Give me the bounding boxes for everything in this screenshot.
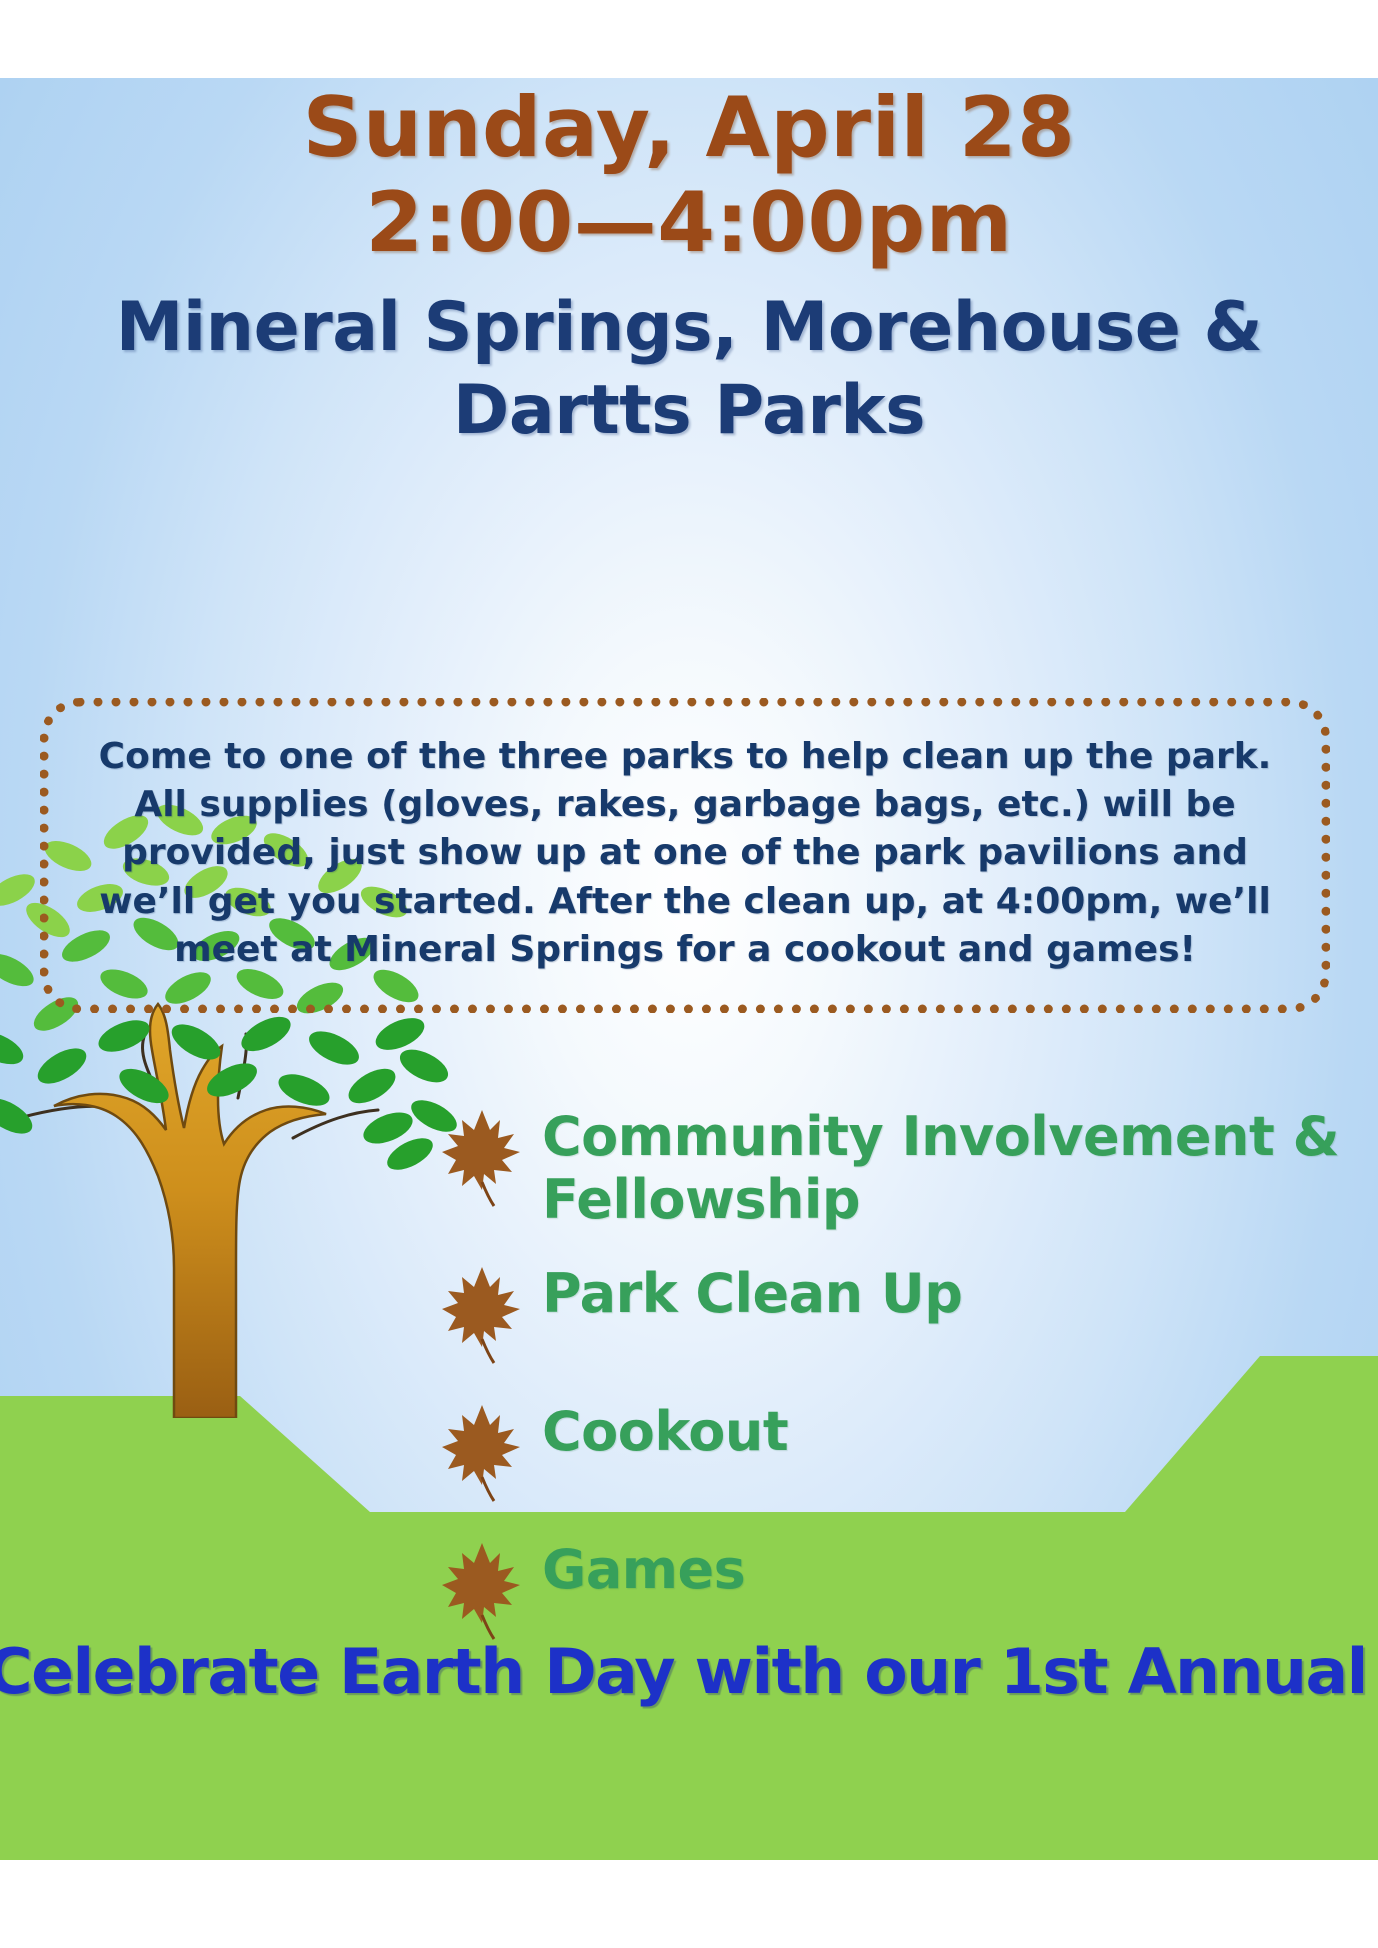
benefits-list: Community Involvement & Fellowship Park …	[440, 1100, 1340, 1671]
headline-date: Sunday, April 28	[0, 78, 1378, 171]
note-box: Come to one of the three parks to help c…	[40, 698, 1330, 1013]
list-item-label-line-1: Cookout	[542, 1400, 788, 1463]
list-item-label-line-1: Community Involvement	[542, 1105, 1274, 1168]
note-line-5: meet at Mineral Springs for a cookout an…	[83, 926, 1287, 974]
list-item-label: Park Clean Up	[542, 1257, 962, 1326]
note-line-1: Come to one of the three parks to help c…	[83, 733, 1287, 781]
maple-leaf-icon	[440, 1399, 524, 1503]
list-item: Cookout	[440, 1395, 1340, 1507]
list-item-label: Cookout	[542, 1395, 788, 1464]
tagline: Celebrate Earth Day with our 1st Annual …	[0, 1635, 1378, 1708]
headline-time: 2:00—4:00pm	[0, 171, 1378, 266]
header-block: Sunday, April 28 2:00—4:00pm Mineral Spr…	[0, 78, 1378, 453]
maple-leaf-icon	[440, 1537, 524, 1641]
list-item: Park Clean Up	[440, 1257, 1340, 1369]
list-item-label-line-1: Park Clean Up	[542, 1262, 962, 1325]
list-item: Games	[440, 1533, 1340, 1645]
headline: Sunday, April 28 2:00—4:00pm	[0, 78, 1378, 265]
subheadline-line-2: Dartts Parks	[0, 370, 1378, 453]
flyer-page: Sunday, April 28 2:00—4:00pm Mineral Spr…	[0, 0, 1378, 1948]
list-item: Community Involvement & Fellowship	[440, 1100, 1340, 1231]
subheadline: Mineral Springs, Morehouse & Dartts Park…	[0, 265, 1378, 453]
maple-leaf-icon	[440, 1261, 524, 1365]
note-line-3: provided, just show up at one of the par…	[83, 829, 1287, 877]
subheadline-line-1: Mineral Springs, Morehouse &	[0, 287, 1378, 370]
list-item-label: Community Involvement & Fellowship	[542, 1100, 1340, 1231]
note-line-4: we’ll get you started. After the clean u…	[83, 878, 1287, 926]
list-item-label-line-1: Games	[542, 1538, 745, 1601]
flyer-canvas: Sunday, April 28 2:00—4:00pm Mineral Spr…	[0, 78, 1378, 1860]
note-line-2: All supplies (gloves, rakes, garbage bag…	[83, 781, 1287, 829]
maple-leaf-icon	[440, 1104, 524, 1208]
list-item-label: Games	[542, 1533, 745, 1602]
note-text: Come to one of the three parks to help c…	[83, 733, 1287, 974]
